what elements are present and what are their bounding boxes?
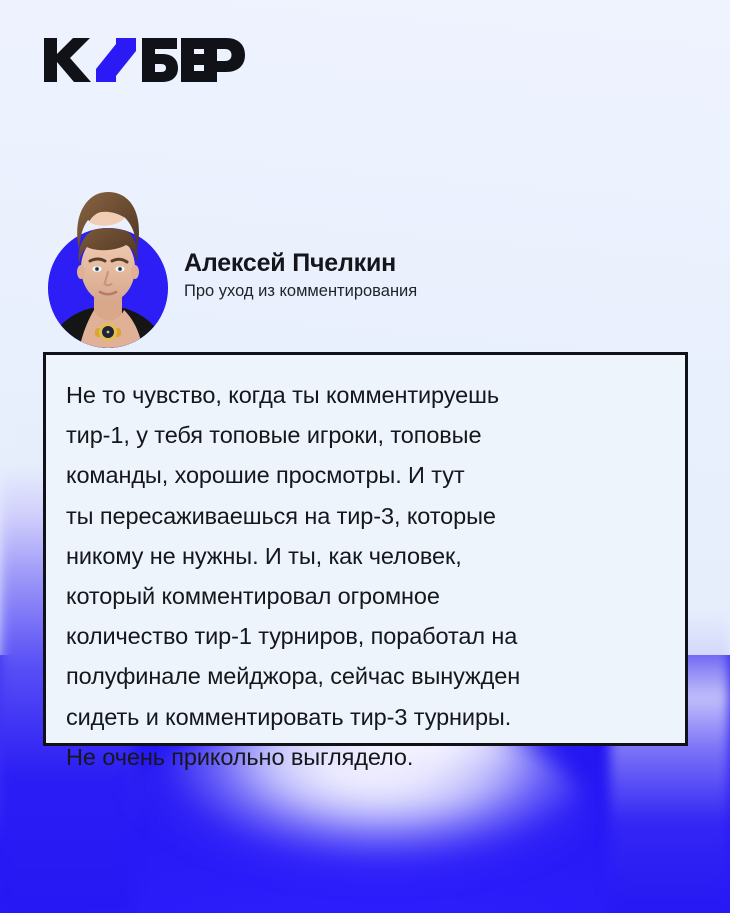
avatar-overflow-hair [62, 170, 154, 250]
brand-logo-tail [168, 38, 248, 87]
kiber-logo-er-icon [168, 38, 248, 82]
author-block: Алексей Пчелкин Про уход из комментирова… [48, 172, 608, 328]
avatar [48, 228, 168, 326]
quote-box: Не то чувство, когда ты комментируешь ти… [43, 352, 688, 746]
avatar-hair-overflow-icon [62, 170, 154, 250]
social-quote-card: Алексей Пчелкин Про уход из комментирова… [0, 0, 730, 913]
author-text: Алексей Пчелкин Про уход из комментирова… [184, 250, 604, 300]
quote-text: Не то чувство, когда ты комментируешь ти… [46, 355, 685, 777]
author-name: Алексей Пчелкин [184, 250, 604, 278]
author-subtitle: Про уход из комментирования [184, 282, 604, 301]
